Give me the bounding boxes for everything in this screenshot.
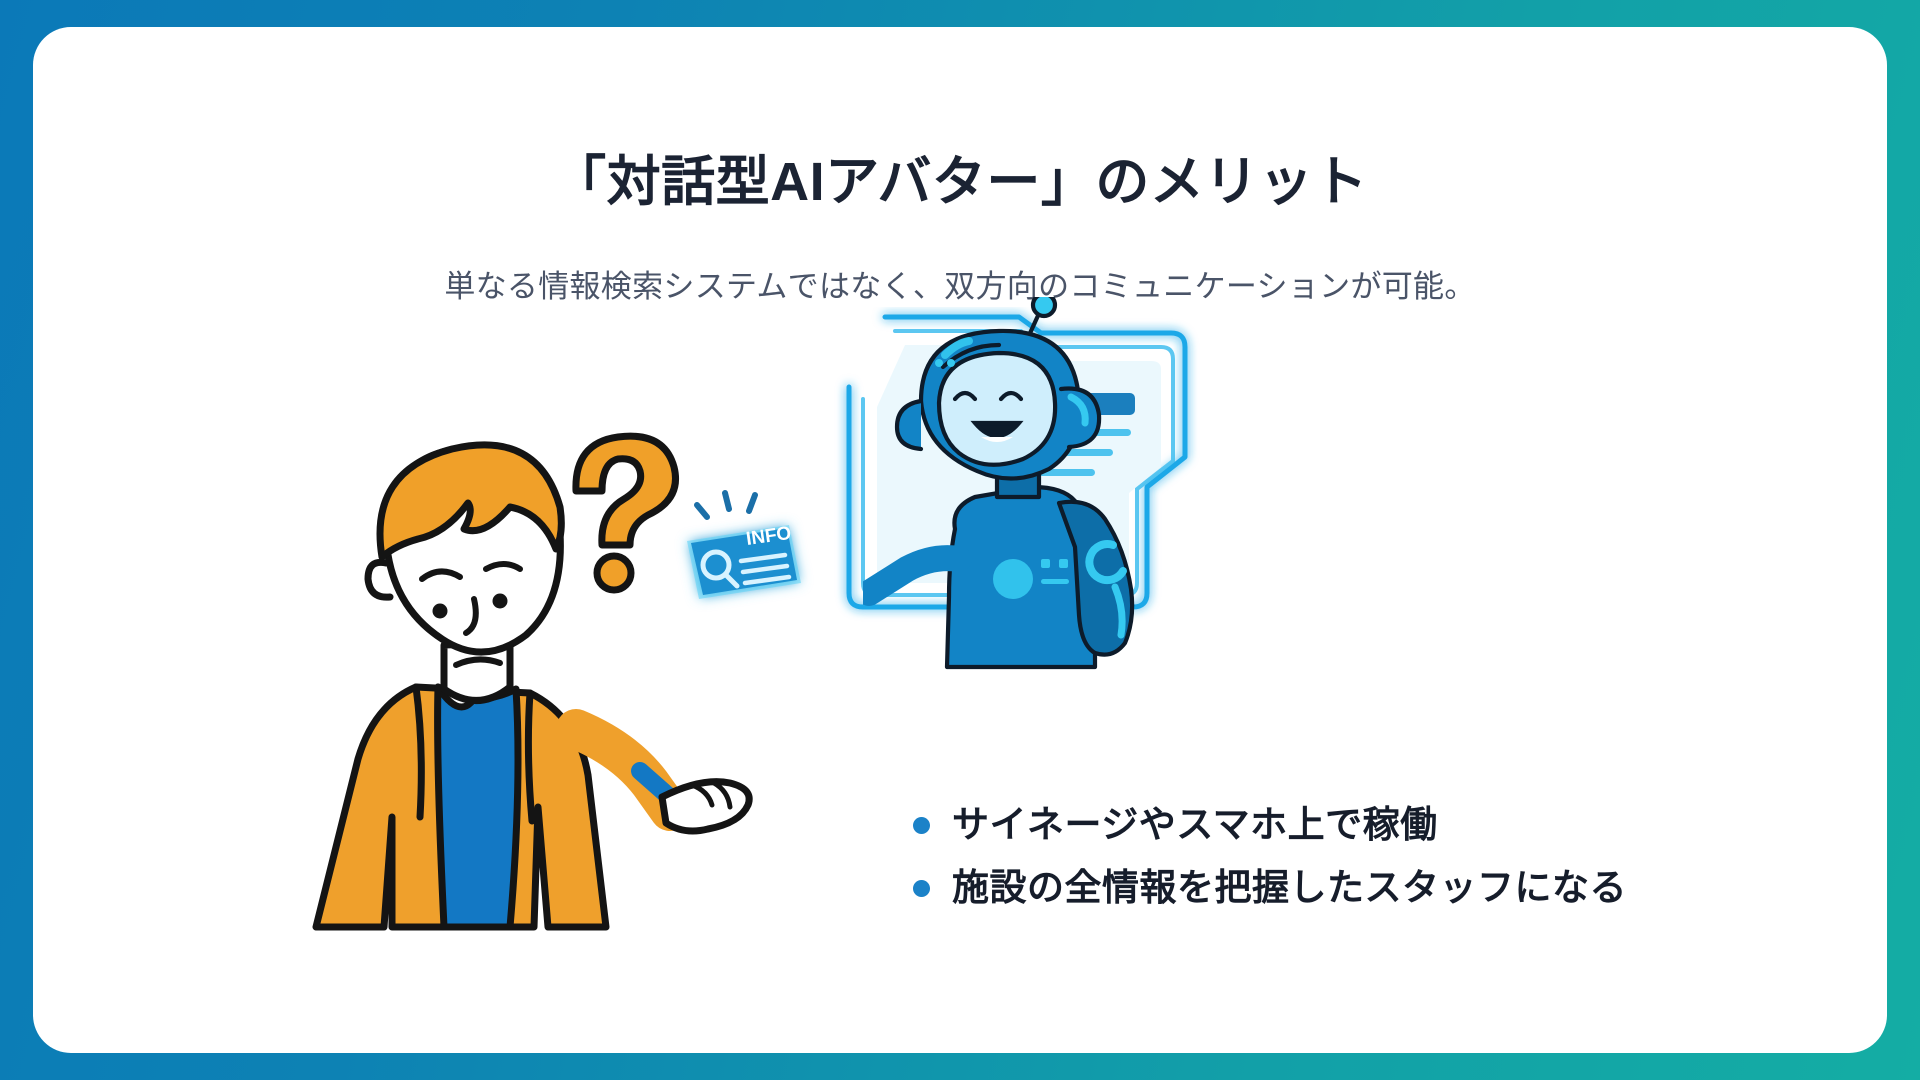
page-title: 「対話型AIアバター」のメリット — [33, 151, 1887, 215]
robot-face — [939, 353, 1055, 465]
person-hand — [662, 782, 749, 831]
list-item-label: 施設の全情報を把握したスタッフになる — [952, 865, 1627, 911]
list-item-label: サイネージやスマホ上で稼働 — [952, 802, 1438, 848]
slide-root: 「対話型AIアバター」のメリット 単なる情報検索システムではなく、双方向のコミュ… — [0, 0, 1920, 1080]
person-shirt — [438, 687, 518, 927]
bullet-dot-icon — [913, 817, 930, 834]
ai-avatar-robot — [863, 297, 1223, 677]
list-item: 施設の全情報を把握したスタッフになる — [913, 865, 1813, 911]
person-ear — [368, 562, 390, 597]
slide-card: 「対話型AIアバター」のメリット 単なる情報検索システムではなく、双方向のコミュ… — [33, 27, 1887, 1053]
robot-left-arm — [869, 558, 959, 593]
confused-person — [288, 387, 768, 947]
question-mark-icon — [576, 436, 676, 590]
benefit-list: サイネージやスマホ上で稼働 施設の全情報を把握したスタッフになる — [913, 802, 1813, 929]
list-item: サイネージやスマホ上で稼働 — [913, 802, 1813, 848]
bullet-dot-icon — [913, 880, 930, 897]
robot-ear-left — [897, 401, 921, 449]
